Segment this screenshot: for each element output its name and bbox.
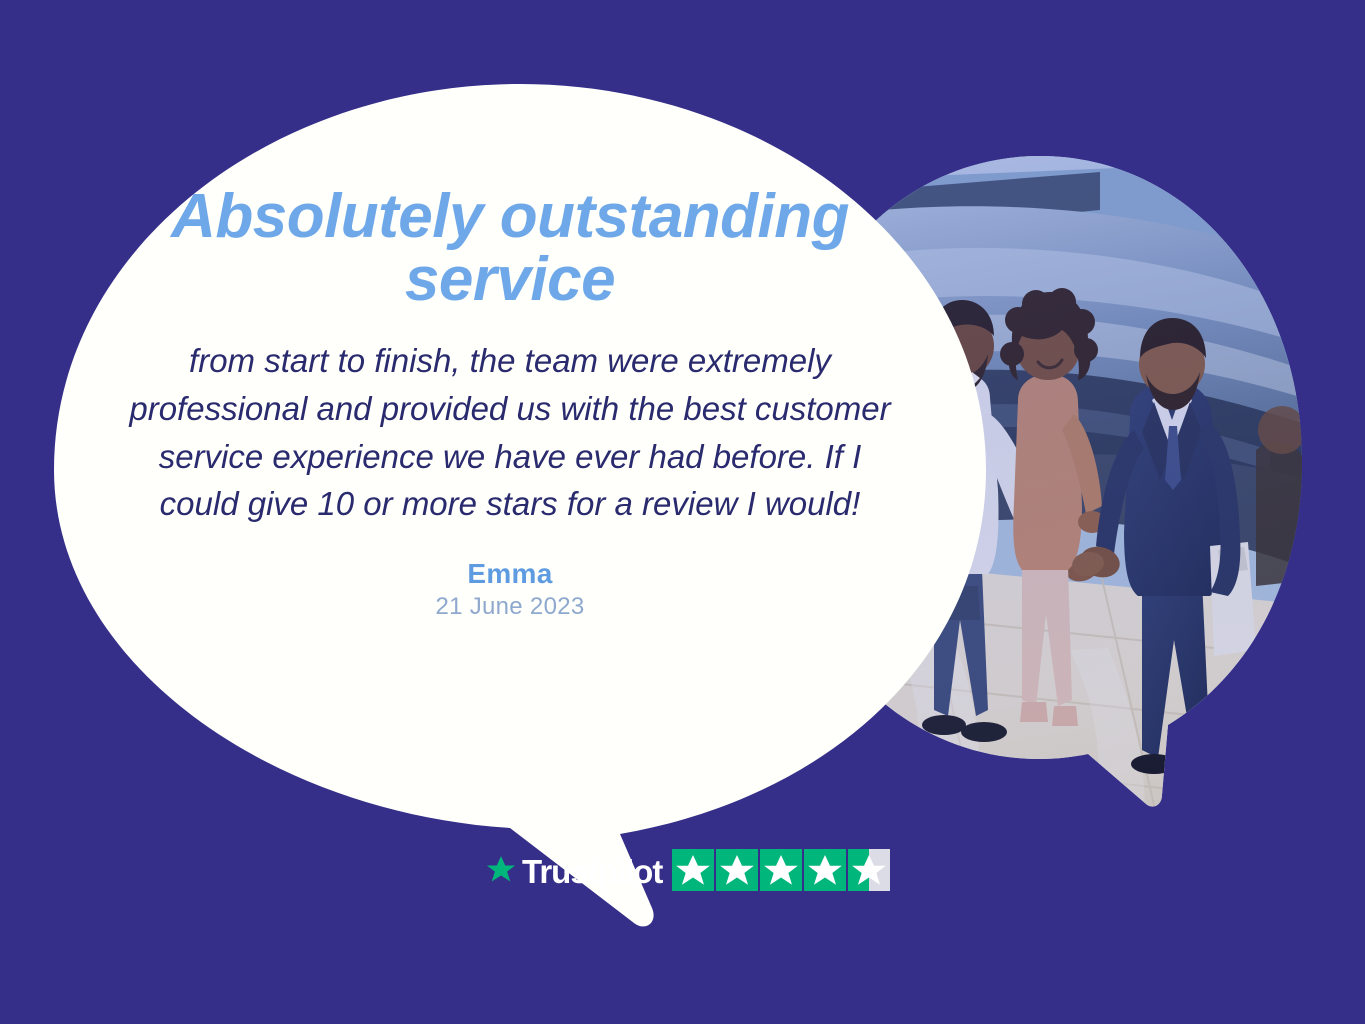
trustpilot-star-5 xyxy=(848,849,890,891)
star-glyph-icon xyxy=(760,849,802,891)
review-headline: Absolutely outstanding service xyxy=(95,185,925,311)
trustpilot-star-3 xyxy=(760,849,802,891)
trustpilot-star-4 xyxy=(804,849,846,891)
review-author-block: Emma 21 June 2023 xyxy=(95,558,925,621)
review-body-text: from start to finish, the team were extr… xyxy=(95,337,925,527)
trustpilot-star-1 xyxy=(672,849,714,891)
trustpilot-wordmark: Trustpilot xyxy=(522,855,662,888)
star-glyph-icon xyxy=(804,849,846,891)
testimonial-graphic: Absolutely outstanding service from star… xyxy=(0,0,1365,1024)
star-glyph-icon xyxy=(672,849,714,891)
review-date: 21 June 2023 xyxy=(95,593,925,621)
review-author-name: Emma xyxy=(95,558,925,590)
review-content: Absolutely outstanding service from star… xyxy=(95,185,925,621)
trustpilot-logo: Trustpilot xyxy=(485,854,662,887)
trustpilot-star-2 xyxy=(716,849,758,891)
trustpilot-star-rating xyxy=(672,849,890,891)
trustpilot-rating-bar: Trustpilot xyxy=(485,849,890,891)
star-glyph-icon xyxy=(848,849,890,891)
trustpilot-star-icon xyxy=(485,854,517,886)
star-glyph-icon xyxy=(716,849,758,891)
